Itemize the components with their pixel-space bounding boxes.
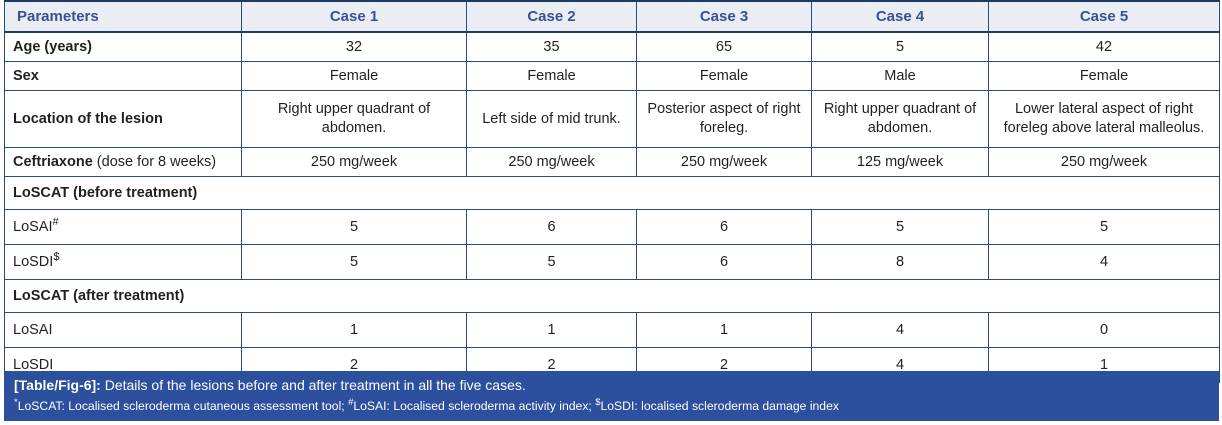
table-section-row: LoSCAT (before treatment) [5, 177, 1220, 210]
table-row: Sex Female Female Female Male Female [5, 62, 1220, 91]
footnote-loscat: LoSCAT: Localised scleroderma cutaneous … [18, 399, 348, 413]
clinical-cases-table: Parameters Case 1 Case 2 Case 3 Case 4 C… [4, 0, 1220, 383]
footnote-losai: LoSAI: Localised scleroderma activity in… [353, 399, 595, 413]
row-label-losdi-before: LoSDI$ [5, 245, 242, 280]
row-label-losai-before: LoSAI# [5, 210, 242, 245]
cell-losai-after-case-1: 1 [242, 313, 467, 348]
row-label-sex: Sex [5, 62, 242, 91]
cell-losdi-before-case-2: 5 [467, 245, 637, 280]
cell-age-case-5: 42 [989, 32, 1220, 62]
table-footnotes: *LoSCAT: Localised scleroderma cutaneous… [14, 395, 1219, 415]
cell-losdi-before-case-4: 8 [812, 245, 989, 280]
cell-losdi-before-case-1: 5 [242, 245, 467, 280]
cell-age-case-4: 5 [812, 32, 989, 62]
row-label-losai-after: LoSAI [5, 313, 242, 348]
cell-losai-before-case-1: 5 [242, 210, 467, 245]
table-header-row: Parameters Case 1 Case 2 Case 3 Case 4 C… [5, 1, 1220, 32]
column-header-case-2: Case 2 [467, 1, 637, 32]
cell-sex-case-4: Male [812, 62, 989, 91]
cell-losai-after-case-4: 4 [812, 313, 989, 348]
table-section-row: LoSCAT (after treatment) [5, 280, 1220, 313]
table-body: Age (years) 32 35 65 5 42 Sex Female Fem… [5, 32, 1220, 383]
cell-losdi-before-case-5: 4 [989, 245, 1220, 280]
section-header-loscat-after: LoSCAT (after treatment) [5, 280, 1220, 313]
row-label-ceftriaxone-note: (dose for 8 weeks) [93, 154, 216, 170]
table-row: LoSAI 1 1 1 4 0 [5, 313, 1220, 348]
table-caption: [Table/Fig-6]: Details of the lesions be… [14, 376, 1219, 395]
cell-age-case-1: 32 [242, 32, 467, 62]
row-label-ceftriaxone: Ceftriaxone (dose for 8 weeks) [5, 148, 242, 177]
cell-sex-case-3: Female [637, 62, 812, 91]
cell-ceftriaxone-case-5: 250 mg/week [989, 148, 1220, 177]
footnote-losdi: LoSDI: localised scleroderma damage inde… [601, 399, 839, 413]
cell-losai-before-case-4: 5 [812, 210, 989, 245]
footnote-marker-dollar: $ [53, 251, 59, 263]
cell-ceftriaxone-case-1: 250 mg/week [242, 148, 467, 177]
column-header-case-4: Case 4 [812, 1, 989, 32]
cell-losai-after-case-2: 1 [467, 313, 637, 348]
cell-losai-after-case-3: 1 [637, 313, 812, 348]
cell-sex-case-1: Female [242, 62, 467, 91]
table-figure: Parameters Case 1 Case 2 Case 3 Case 4 C… [0, 0, 1222, 425]
row-label-location: Location of the lesion [5, 91, 242, 148]
cell-ceftriaxone-case-2: 250 mg/week [467, 148, 637, 177]
section-header-loscat-before: LoSCAT (before treatment) [5, 177, 1220, 210]
table-caption-band: [Table/Fig-6]: Details of the lesions be… [4, 371, 1219, 421]
cell-location-case-3: Posterior aspect of right foreleg. [637, 91, 812, 148]
column-header-parameters: Parameters [5, 1, 242, 32]
cell-ceftriaxone-case-3: 250 mg/week [637, 148, 812, 177]
table-caption-text: Details of the lesions before and after … [101, 377, 526, 393]
column-header-case-5: Case 5 [989, 1, 1220, 32]
cell-losai-before-case-2: 6 [467, 210, 637, 245]
table-row: LoSAI# 5 6 6 5 5 [5, 210, 1220, 245]
table-caption-tag: [Table/Fig-6]: [14, 377, 101, 393]
table-row: Ceftriaxone (dose for 8 weeks) 250 mg/we… [5, 148, 1220, 177]
cell-location-case-4: Right upper quadrant of abdomen. [812, 91, 989, 148]
row-label-losai-before-text: LoSAI [13, 219, 53, 235]
cell-losai-before-case-3: 6 [637, 210, 812, 245]
cell-location-case-2: Left side of mid trunk. [467, 91, 637, 148]
cell-age-case-3: 65 [637, 32, 812, 62]
table-header: Parameters Case 1 Case 2 Case 3 Case 4 C… [5, 1, 1220, 32]
footnote-marker-hash: # [53, 216, 59, 228]
column-header-case-1: Case 1 [242, 1, 467, 32]
table-row: Location of the lesion Right upper quadr… [5, 91, 1220, 148]
cell-sex-case-5: Female [989, 62, 1220, 91]
table-row: Age (years) 32 35 65 5 42 [5, 32, 1220, 62]
cell-location-case-1: Right upper quadrant of abdomen. [242, 91, 467, 148]
table-row: LoSDI$ 5 5 6 8 4 [5, 245, 1220, 280]
row-label-age: Age (years) [5, 32, 242, 62]
row-label-losdi-before-text: LoSDI [13, 254, 53, 270]
cell-losdi-before-case-3: 6 [637, 245, 812, 280]
cell-ceftriaxone-case-4: 125 mg/week [812, 148, 989, 177]
column-header-case-3: Case 3 [637, 1, 812, 32]
cell-sex-case-2: Female [467, 62, 637, 91]
cell-losai-before-case-5: 5 [989, 210, 1220, 245]
cell-age-case-2: 35 [467, 32, 637, 62]
cell-location-case-5: Lower lateral aspect of right foreleg ab… [989, 91, 1220, 148]
row-label-ceftriaxone-bold: Ceftriaxone [13, 154, 93, 170]
cell-losai-after-case-5: 0 [989, 313, 1220, 348]
